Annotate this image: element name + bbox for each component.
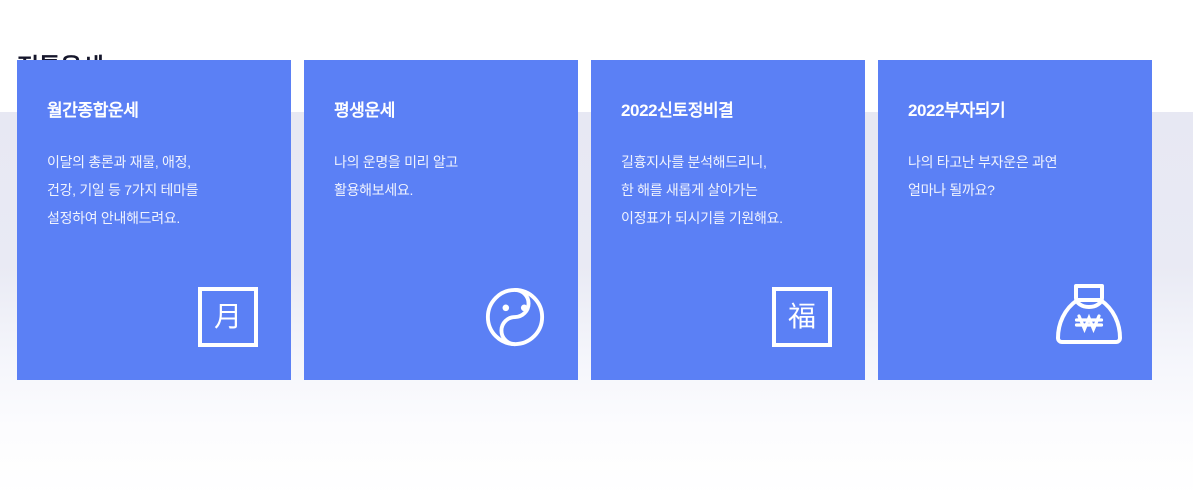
fortune-card-wealth[interactable]: 2022부자되기 나의 타고난 부자운은 과연 얼마나 될까요? <box>878 60 1152 380</box>
card-title: 평생운세 <box>334 100 548 122</box>
page-title: 정통운세 <box>17 0 1176 60</box>
card-description: 나의 타고난 부자운은 과연 얼마나 될까요? <box>908 148 1122 204</box>
money-bag-won-icon <box>1054 282 1124 352</box>
card-description-line: 나의 운명을 미리 알고 <box>334 148 548 176</box>
card-description: 나의 운명을 미리 알고 활용해보세요. <box>334 148 548 204</box>
fortune-card-tojeong[interactable]: 2022신토정비결 길흉지사를 분석해드리니, 한 해를 새롭게 살아가는 이정… <box>591 60 865 380</box>
icon-glyph: 月 <box>214 303 242 331</box>
fortune-card-lifetime[interactable]: 평생운세 나의 운명을 미리 알고 활용해보세요. <box>304 60 578 380</box>
card-description-line: 나의 타고난 부자운은 과연 <box>908 148 1122 176</box>
card-description-line: 이달의 총론과 재물, 애정, <box>47 148 261 176</box>
card-description: 이달의 총론과 재물, 애정, 건강, 기일 등 7가지 테마를 설정하여 안내… <box>47 148 261 232</box>
card-description-line: 건강, 기일 등 7가지 테마를 <box>47 176 261 204</box>
fortune-section: 정통운세 월간종합운세 이달의 총론과 재물, 애정, 건강, 기일 등 7가지… <box>0 0 1193 498</box>
card-description-line: 활용해보세요. <box>334 176 548 204</box>
card-description-line: 얼마나 될까요? <box>908 176 1122 204</box>
moon-hanja-framed-icon: 月 <box>193 282 263 352</box>
icon-frame: 月 <box>198 287 258 347</box>
card-description-line: 한 해를 새롭게 살아가는 <box>621 176 835 204</box>
card-title: 월간종합운세 <box>47 100 261 122</box>
card-description: 길흉지사를 분석해드리니, 한 해를 새롭게 살아가는 이정표가 되시기를 기원… <box>621 148 835 232</box>
icon-glyph: 福 <box>788 303 816 331</box>
fortune-card-list: 월간종합운세 이달의 총론과 재물, 애정, 건강, 기일 등 7가지 테마를 … <box>17 60 1176 380</box>
icon-frame: 福 <box>772 287 832 347</box>
card-description-line: 길흉지사를 분석해드리니, <box>621 148 835 176</box>
yin-yang-icon <box>480 282 550 352</box>
card-description-line: 이정표가 되시기를 기원해요. <box>621 204 835 232</box>
card-title: 2022부자되기 <box>908 100 1122 122</box>
card-title: 2022신토정비결 <box>621 100 835 122</box>
fortune-card-monthly[interactable]: 월간종합운세 이달의 총론과 재물, 애정, 건강, 기일 등 7가지 테마를 … <box>17 60 291 380</box>
card-description-line: 설정하여 안내해드려요. <box>47 204 261 232</box>
fortune-hanja-framed-icon: 福 <box>767 282 837 352</box>
